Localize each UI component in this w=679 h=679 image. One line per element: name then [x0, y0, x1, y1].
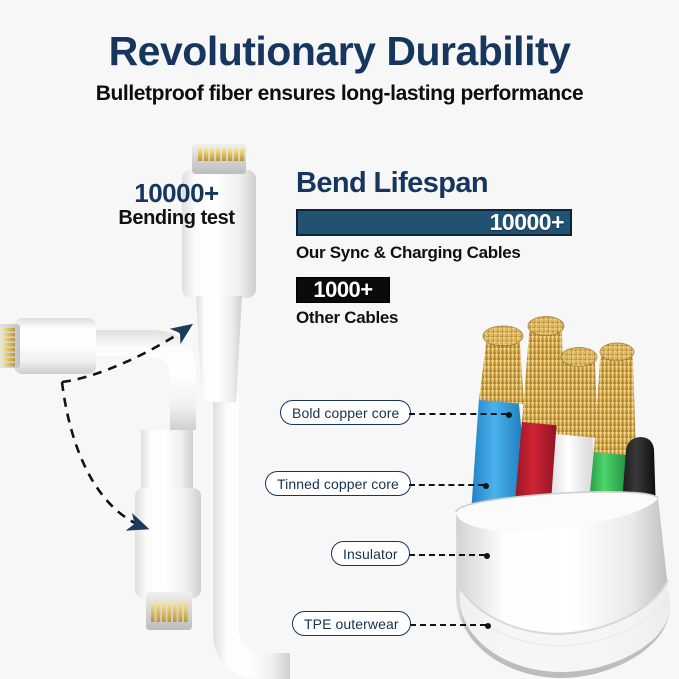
page-title: Revolutionary Durability: [0, 28, 679, 75]
bar-value-other-cables: 1000+: [313, 277, 372, 303]
lightning-connector-bottom: [135, 430, 201, 630]
callout-insulator[interactable]: Insulator: [331, 541, 410, 566]
product-infographic: Revolutionary Durability Bulletproof fib…: [0, 0, 679, 679]
callout-tpe-outerwear[interactable]: TPE outerwear: [292, 611, 411, 636]
cable-cross-section-artwork: [434, 300, 679, 679]
page-subtitle: Bulletproof fiber ensures long-lasting p…: [0, 82, 679, 106]
leader-line-bold-copper-core: [409, 413, 507, 417]
bar-value-our-cables: 10000+: [490, 209, 570, 236]
tpe-outer-jacket: [456, 478, 670, 678]
leader-line-insulator: [409, 554, 485, 558]
callout-bold-copper-core[interactable]: Bold copper core: [280, 400, 411, 425]
bend-test-count: 10000+: [84, 178, 269, 209]
bar-our-cables: 10000+: [296, 209, 572, 236]
bar-label-our-cables: Our Sync & Charging Cables: [296, 243, 521, 263]
bend-test-label: Bending test: [84, 207, 269, 230]
bend-arrow-lower: [62, 382, 146, 528]
bar-label-other-cables: Other Cables: [296, 308, 398, 328]
callout-tinned-copper-core[interactable]: Tinned copper core: [265, 471, 411, 496]
leader-line-tpe-outerwear: [410, 624, 486, 628]
leader-line-tinned-copper-core: [409, 484, 484, 488]
chart-title: Bend Lifespan: [296, 167, 488, 200]
bar-other-cables: 1000+: [296, 277, 390, 303]
